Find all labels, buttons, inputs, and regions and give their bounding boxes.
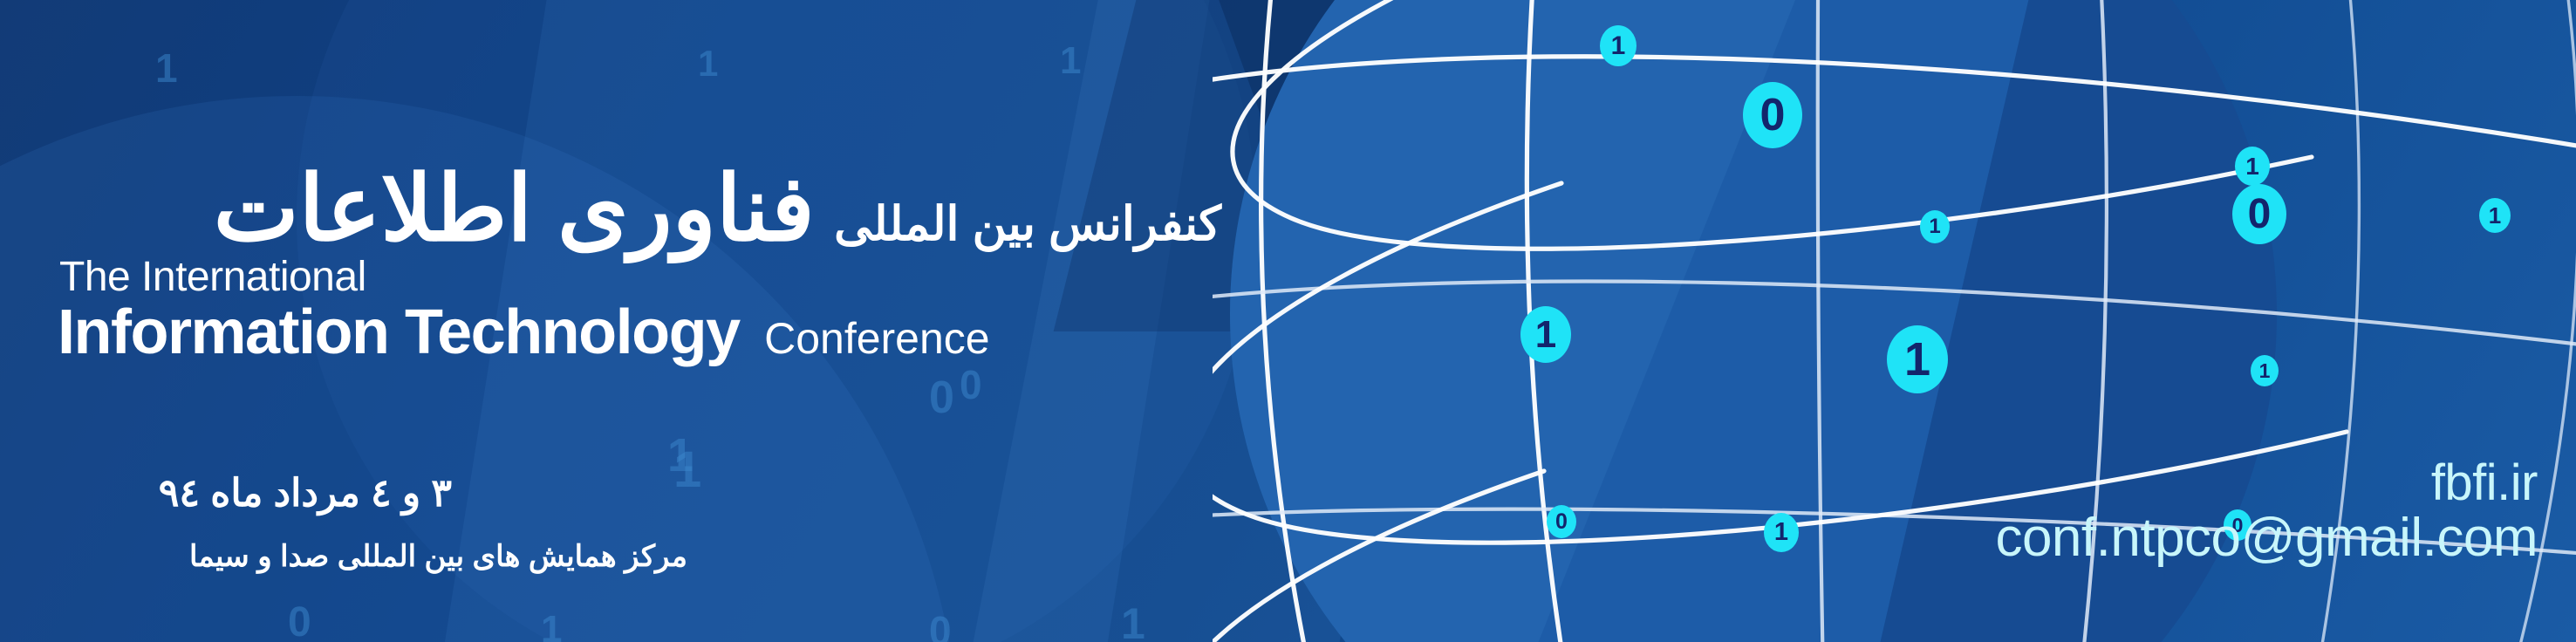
title-persian-main: فناوری اطلاعات bbox=[214, 159, 815, 260]
contact-email-link[interactable]: conf.ntpco@gmail.com bbox=[1995, 507, 2538, 569]
conference-title-persian: کنفرانس بین المللی فناوری اطلاعات bbox=[61, 155, 1221, 262]
event-venue: مرکز همایش های بین المللی صدا و سیما bbox=[59, 539, 687, 574]
globe-node-1: 1 bbox=[1520, 306, 1571, 363]
globe-node-0: 0 bbox=[1743, 82, 1802, 148]
contact-website-link[interactable]: fbfi.ir bbox=[1995, 454, 2538, 512]
banner-text-block: کنفرانس بین المللی فناوری اطلاعات The In… bbox=[0, 0, 1308, 642]
globe-node-0: 0 bbox=[1547, 505, 1576, 538]
title-english-line2: Information Technology Conference bbox=[58, 297, 990, 368]
globe-node-1: 1 bbox=[2251, 355, 2279, 386]
title-english-suffix: Conference bbox=[764, 314, 990, 363]
globe-node-1: 1 bbox=[1920, 210, 1950, 243]
event-date: ۳ و ٤ مرداد ماه ۹٤ bbox=[59, 471, 452, 516]
globe-node-1: 1 bbox=[2479, 198, 2511, 233]
globe-node-1: 1 bbox=[2235, 147, 2270, 186]
globe-node-1: 1 bbox=[1764, 513, 1799, 552]
contact-block: fbfi.ir conf.ntpco@gmail.com bbox=[1995, 454, 2538, 569]
globe-node-1: 1 bbox=[1600, 25, 1636, 66]
globe-node-0: 0 bbox=[2232, 184, 2286, 244]
title-english-line1: The International bbox=[59, 253, 366, 301]
title-english-main: Information Technology bbox=[58, 297, 740, 367]
globe-node-1: 1 bbox=[1887, 325, 1948, 393]
title-persian-prefix: کنفرانس بین المللی bbox=[834, 198, 1221, 250]
conference-banner: 11100110101 bbox=[0, 0, 2576, 642]
